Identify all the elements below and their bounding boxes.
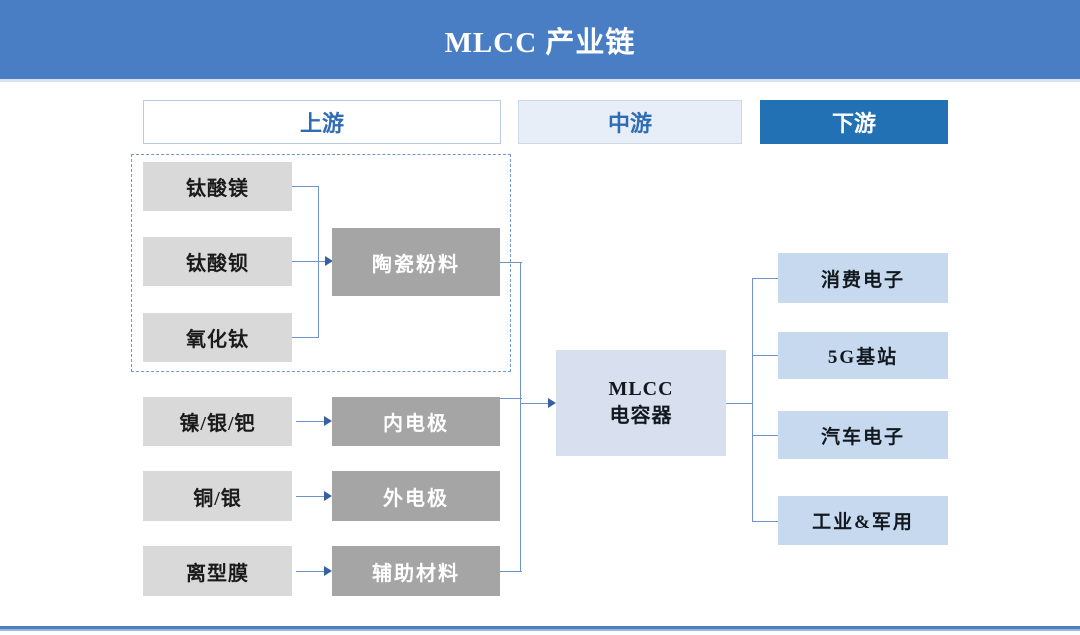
node-raw-material-1-label: 钛酸镁: [186, 172, 249, 201]
node-auxiliary-material-label: 辅助材料: [372, 557, 460, 586]
node-outer-electrode-label: 外电极: [383, 482, 449, 511]
connector-mlcc-out: [726, 403, 753, 404]
connector-upstream-bus: [520, 262, 521, 572]
connector-app-4: [752, 521, 779, 522]
arrow-row2-icon: [324, 491, 332, 501]
node-raw-material-3[interactable]: 氧化钛: [143, 313, 292, 362]
connector-aux-out: [500, 571, 522, 572]
arrow-row1-icon: [324, 416, 332, 426]
node-ceramic-powder[interactable]: 陶瓷粉料: [332, 228, 500, 296]
mlcc-industry-chain-slide: MLCC 产业链 上游 中游 下游 钛酸镁 钛酸钡 氧化钛 陶瓷粉料 镍/银/钯…: [0, 0, 1080, 635]
node-application-3-label: 汽车电子: [821, 422, 905, 449]
tab-downstream-label: 下游: [832, 106, 876, 138]
node-raw-electrode-metal-label: 镍/银/钯: [179, 407, 255, 436]
connector-downstream-bus: [752, 278, 753, 522]
slide-header-banner: MLCC 产业链: [0, 0, 1080, 79]
node-inner-electrode-label: 内电极: [383, 407, 449, 436]
node-inner-electrode[interactable]: 内电极: [332, 397, 500, 446]
node-application-2-label: 5G基站: [828, 342, 898, 369]
header-underline: [0, 79, 1080, 82]
connector-app-1: [752, 278, 779, 279]
node-auxiliary-material[interactable]: 辅助材料: [332, 546, 500, 596]
connector-app-2: [752, 355, 779, 356]
connector-raw3-stub: [292, 337, 319, 338]
node-raw-material-1[interactable]: 钛酸镁: [143, 162, 292, 211]
connector-row1: [296, 421, 326, 422]
node-raw-outer-metal[interactable]: 铜/银: [143, 471, 292, 521]
node-raw-electrode-metal[interactable]: 镍/银/钯: [143, 397, 292, 446]
connector-app-3: [752, 435, 779, 436]
tab-downstream[interactable]: 下游: [760, 100, 948, 144]
node-application-4-label: 工业&军用: [812, 507, 914, 534]
node-mlcc-capacitor[interactable]: MLCC 电容器: [556, 350, 726, 456]
node-mlcc-capacitor-line1: MLCC: [608, 376, 673, 403]
connector-inner-out: [500, 398, 522, 399]
node-mlcc-capacitor-line2: 电容器: [610, 403, 673, 430]
tab-midstream-label: 中游: [608, 106, 652, 138]
node-raw-material-2-label: 钛酸钡: [186, 247, 249, 276]
arrow-row3-icon: [324, 566, 332, 576]
node-application-automotive-electronics[interactable]: 汽车电子: [778, 411, 948, 459]
node-raw-release-film-label: 离型膜: [186, 557, 249, 586]
arrow-bus-to-mlcc-icon: [548, 398, 556, 408]
tab-upstream-label: 上游: [300, 106, 344, 138]
connector-raw1-stub: [292, 186, 319, 187]
tab-midstream[interactable]: 中游: [518, 100, 742, 144]
node-raw-release-film[interactable]: 离型膜: [143, 546, 292, 596]
page-title: MLCC 产业链: [445, 19, 636, 61]
connector-row2: [296, 496, 326, 497]
connector-row3: [296, 571, 326, 572]
node-application-1-label: 消费电子: [821, 265, 905, 292]
node-application-consumer-electronics[interactable]: 消费电子: [778, 253, 948, 303]
tab-upstream[interactable]: 上游: [143, 100, 501, 144]
node-raw-material-3-label: 氧化钛: [186, 323, 249, 352]
node-application-industrial-military[interactable]: 工业&军用: [778, 496, 948, 545]
footer-rule-secondary: [0, 629, 1080, 631]
node-outer-electrode[interactable]: 外电极: [332, 471, 500, 521]
node-raw-outer-metal-label: 铜/银: [193, 482, 242, 511]
node-application-5g-base-station[interactable]: 5G基站: [778, 332, 948, 379]
connector-powder-out: [500, 262, 522, 263]
node-raw-material-2[interactable]: 钛酸钡: [143, 237, 292, 286]
node-ceramic-powder-label: 陶瓷粉料: [372, 248, 460, 277]
